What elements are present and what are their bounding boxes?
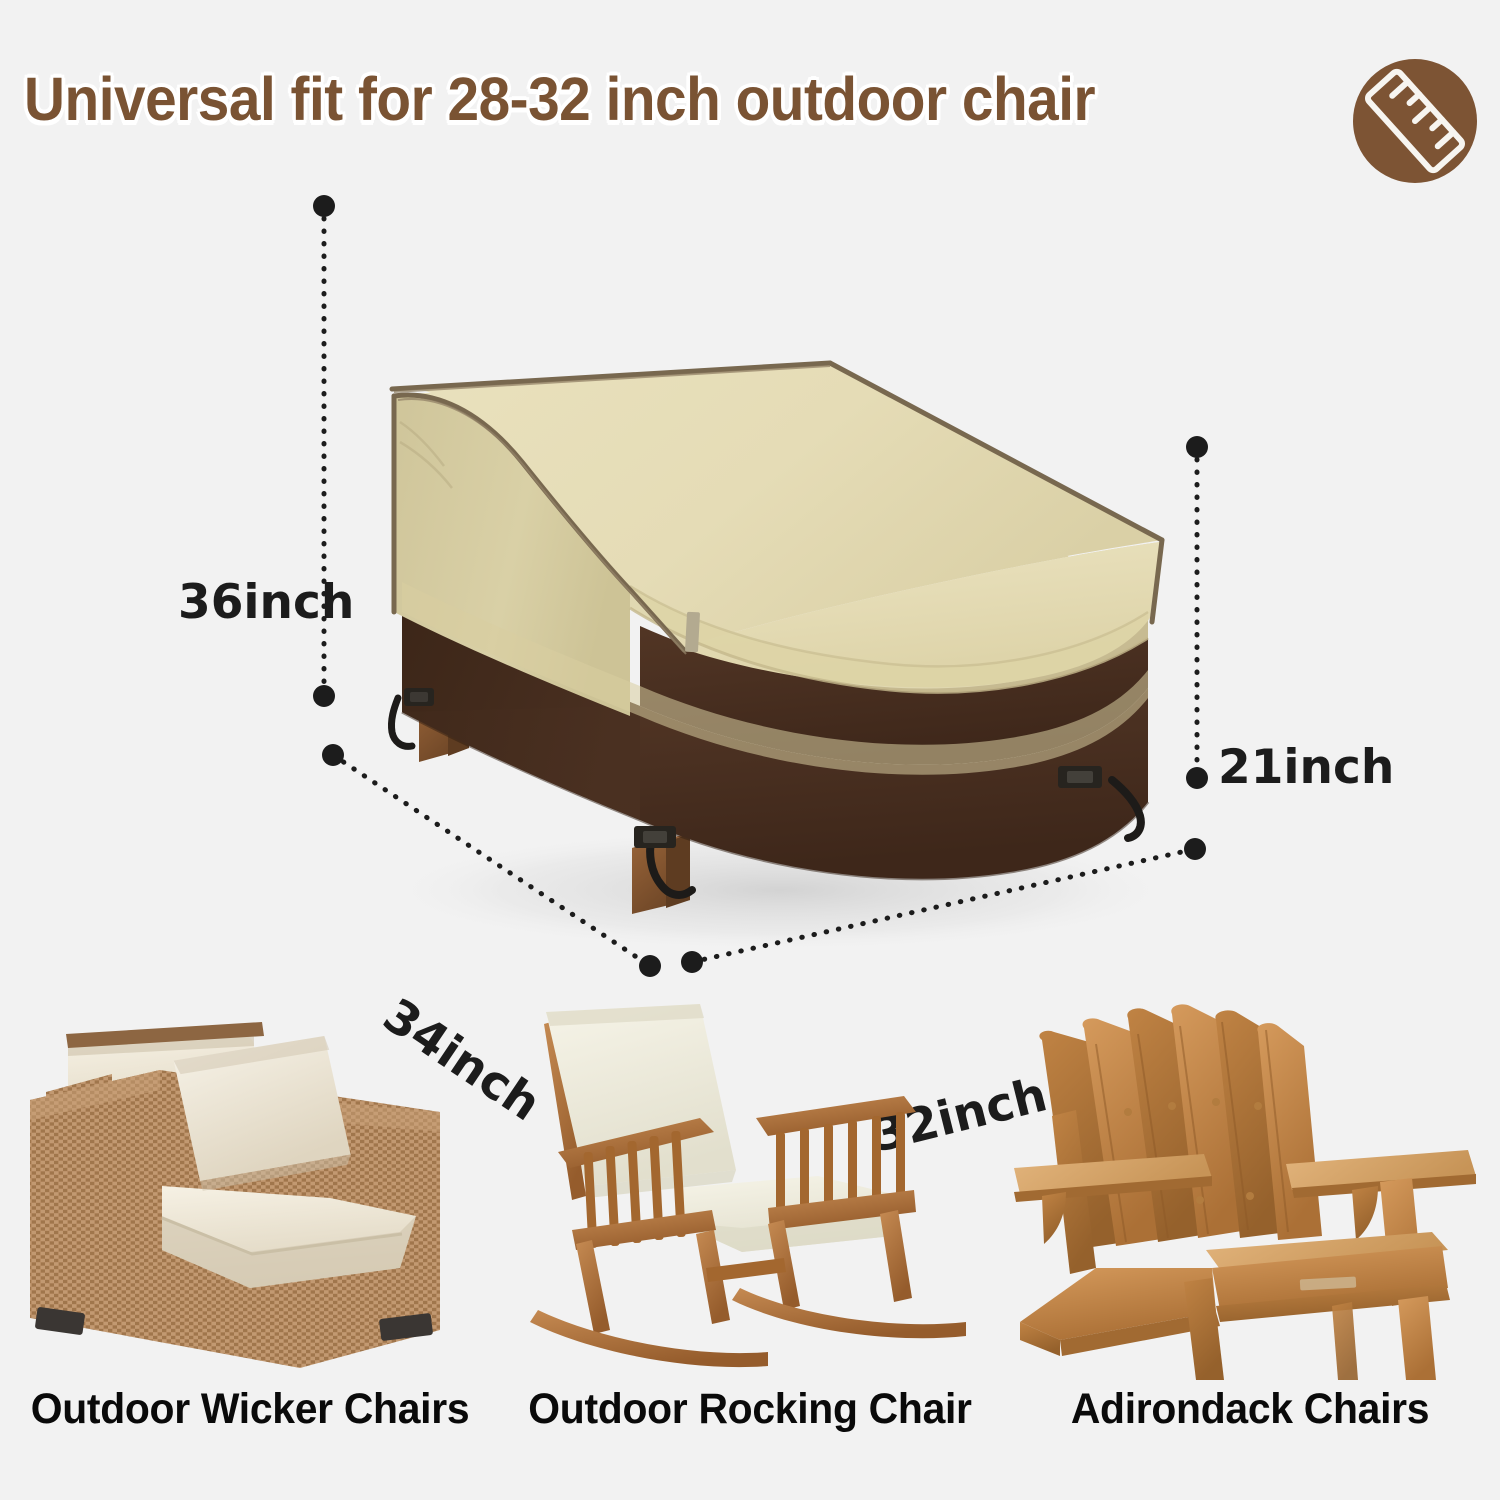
wicker-chair-illustration xyxy=(0,1000,500,1380)
chair-example-wicker: Outdoor Wicker Chairs xyxy=(0,1000,500,1500)
adirondack-chair-illustration xyxy=(1000,1000,1500,1380)
chair-caption-adirondack: Adirondack Chairs xyxy=(1013,1385,1488,1434)
dimension-label-21inch: 21inch xyxy=(1218,740,1394,795)
chair-example-adirondack: Adirondack Chairs xyxy=(1000,1000,1500,1500)
header: Universal fit for 28-32 inch outdoor cha… xyxy=(0,30,1500,160)
dimension-label-36inch: 36inch xyxy=(178,575,354,630)
rocker-right xyxy=(732,1288,966,1338)
chair-caption-rocking: Outdoor Rocking Chair xyxy=(513,1385,988,1434)
rocking-chair-illustration xyxy=(500,1000,1000,1380)
chair-caption-wicker: Outdoor Wicker Chairs xyxy=(13,1385,488,1434)
chair-example-rocking: Outdoor Rocking Chair xyxy=(500,1000,1000,1500)
rocker-left xyxy=(530,1310,768,1367)
right-armrest xyxy=(756,1096,916,1136)
page-title: Universal fit for 28-32 inch outdoor cha… xyxy=(24,64,1095,134)
compatible-chairs-row: Outdoor Wicker Chairs xyxy=(0,1000,1500,1500)
infographic-page: Universal fit for 28-32 inch outdoor cha… xyxy=(0,0,1500,1500)
brand-tag xyxy=(685,612,700,653)
product-illustration-area: 36inch 21inch 34inch 32inch xyxy=(0,160,1500,1010)
